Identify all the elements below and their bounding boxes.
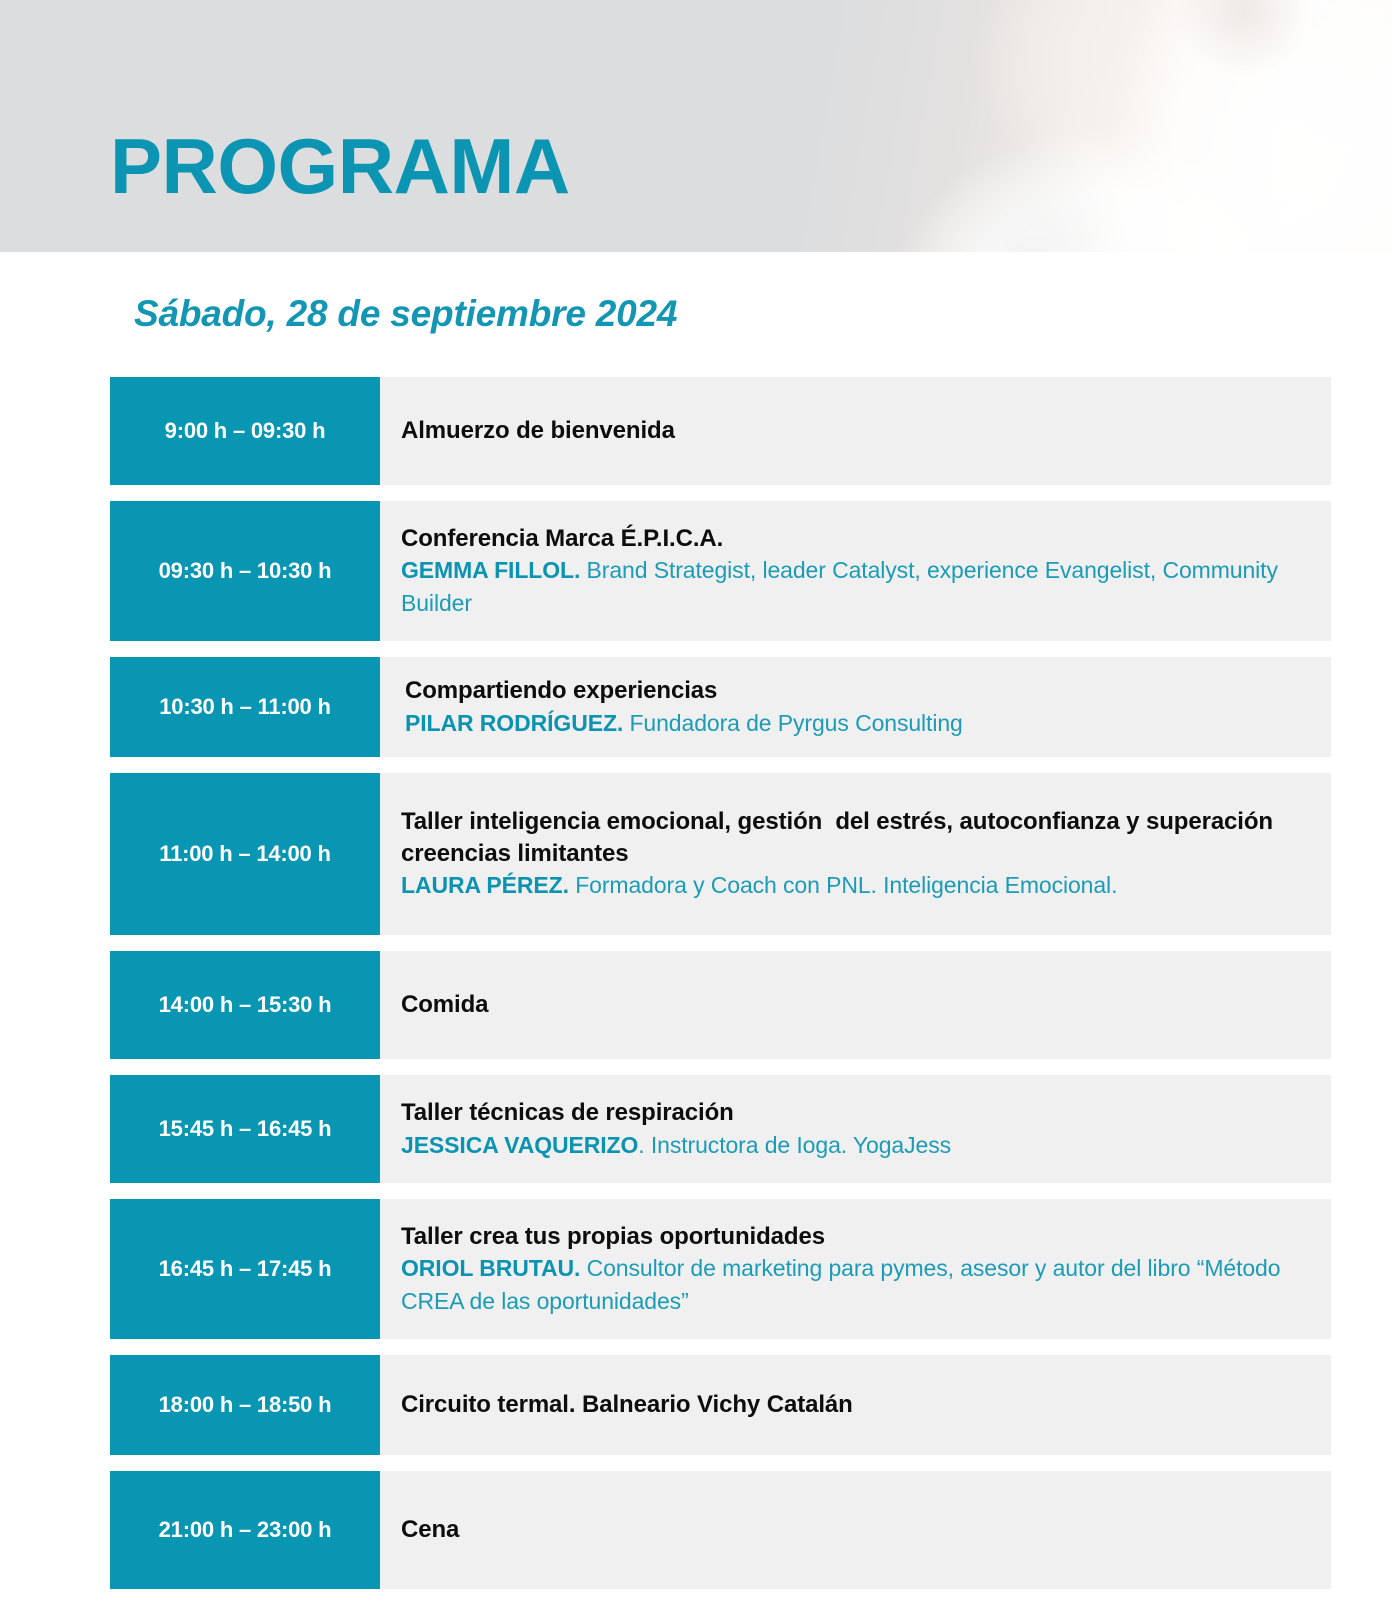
speaker-name: PILAR RODRÍGUEZ.	[405, 710, 623, 736]
speaker-name: JESSICA VAQUERIZO	[401, 1132, 638, 1158]
row-time: 18:00 h – 18:50 h	[110, 1355, 380, 1455]
row-speaker: ORIOL BRUTAU. Consultor de marketing par…	[401, 1252, 1311, 1317]
row-time: 14:00 h – 15:30 h	[110, 951, 380, 1059]
row-speaker: GEMMA FILLOL. Brand Strategist, leader C…	[401, 554, 1311, 619]
row-title: Almuerzo de bienvenida	[401, 415, 1311, 447]
schedule-row: 11:00 h – 14:00 h Taller inteligencia em…	[110, 773, 1331, 935]
row-body: Cena	[380, 1471, 1331, 1589]
schedule-row: 21:00 h – 23:00 h Cena	[110, 1471, 1331, 1589]
row-time: 15:45 h – 16:45 h	[110, 1075, 380, 1183]
row-body: Taller técnicas de respiración JESSICA V…	[380, 1075, 1331, 1183]
row-body: Taller crea tus propias oportunidades OR…	[380, 1199, 1331, 1339]
speaker-role: . Instructora de Ioga. YogaJess	[638, 1132, 951, 1158]
row-title: Circuito termal. Balneario Vichy Catalán	[401, 1389, 1311, 1421]
speaker-name: LAURA PÉREZ.	[401, 872, 569, 898]
row-body: Compartiendo experiencias PILAR RODRÍGUE…	[380, 657, 1331, 757]
schedule-row: 10:30 h – 11:00 h Compartiendo experienc…	[110, 657, 1331, 757]
row-title: Cena	[401, 1514, 1311, 1546]
row-time: 11:00 h – 14:00 h	[110, 773, 380, 935]
row-time: 9:00 h – 09:30 h	[110, 377, 380, 485]
schedule-row: 09:30 h – 10:30 h Conferencia Marca É.P.…	[110, 501, 1331, 641]
row-body: Conferencia Marca É.P.I.C.A. GEMMA FILLO…	[380, 501, 1331, 641]
schedule-row: 18:00 h – 18:50 h Circuito termal. Balne…	[110, 1355, 1331, 1455]
row-speaker: LAURA PÉREZ. Formadora y Coach con PNL. …	[401, 869, 1311, 902]
speaker-name: GEMMA FILLOL.	[401, 557, 580, 583]
schedule-row: 15:45 h – 16:45 h Taller técnicas de res…	[110, 1075, 1331, 1183]
row-body: Circuito termal. Balneario Vichy Catalán	[380, 1355, 1331, 1455]
schedule-list: 9:00 h – 09:30 h Almuerzo de bienvenida …	[110, 377, 1331, 1605]
row-time: 16:45 h – 17:45 h	[110, 1199, 380, 1339]
speaker-role: Formadora y Coach con PNL. Inteligencia …	[569, 872, 1117, 898]
row-time: 09:30 h – 10:30 h	[110, 501, 380, 641]
header-banner: PROGRAMA	[0, 0, 1392, 252]
row-body: Comida	[380, 951, 1331, 1059]
row-time: 10:30 h – 11:00 h	[110, 657, 380, 757]
row-speaker: PILAR RODRÍGUEZ. Fundadora de Pyrgus Con…	[405, 707, 1311, 740]
schedule-row: 14:00 h – 15:30 h Comida	[110, 951, 1331, 1059]
speaker-role: Fundadora de Pyrgus Consulting	[623, 710, 963, 736]
row-title: Comida	[401, 989, 1311, 1021]
row-body: Almuerzo de bienvenida	[380, 377, 1331, 485]
date-heading: Sábado, 28 de septiembre 2024	[134, 293, 677, 335]
row-title: Taller técnicas de respiración	[401, 1097, 1311, 1129]
row-title: Compartiendo experiencias	[405, 675, 1311, 707]
row-body: Taller inteligencia emocional, gestión d…	[380, 773, 1331, 935]
schedule-row: 16:45 h – 17:45 h Taller crea tus propia…	[110, 1199, 1331, 1339]
row-title: Taller crea tus propias oportunidades	[401, 1221, 1311, 1253]
row-title: Conferencia Marca É.P.I.C.A.	[401, 523, 1311, 555]
schedule-row: 9:00 h – 09:30 h Almuerzo de bienvenida	[110, 377, 1331, 485]
speaker-name: ORIOL BRUTAU.	[401, 1255, 580, 1281]
row-speaker: JESSICA VAQUERIZO. Instructora de Ioga. …	[401, 1129, 1311, 1162]
row-title: Taller inteligencia emocional, gestión d…	[401, 806, 1311, 869]
row-time: 21:00 h – 23:00 h	[110, 1471, 380, 1589]
page-title: PROGRAMA	[110, 127, 570, 205]
